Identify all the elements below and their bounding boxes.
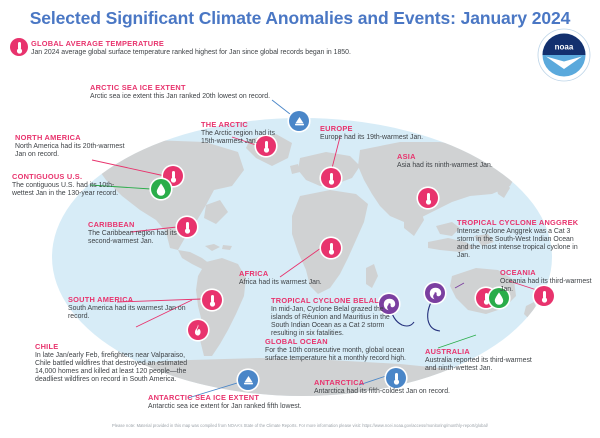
- thermometer-icon-south-america: [202, 290, 222, 310]
- callout-europe: EUROPE Europe had its 19th-warmest Jan.: [320, 124, 430, 142]
- sea-ice-icon-antarctic: [238, 370, 258, 390]
- fire-icon-chile: [188, 320, 208, 340]
- callout-heading: CHILE: [35, 342, 195, 351]
- footer-note: Please note: Material provided in this m…: [0, 423, 600, 429]
- callout-body: Oceania had its third-warmest Jan.: [500, 278, 600, 295]
- callout-south-america: SOUTH AMERICA South America had its warm…: [68, 295, 188, 321]
- callout-body: The Caribbean region had its second-warm…: [88, 230, 178, 247]
- callout-australia: AUSTRALIA Australia reported its third-w…: [425, 347, 535, 373]
- callout-body: Intense cyclone Anggrek was a Cat 3 stor…: [457, 228, 581, 261]
- callout-body: The contiguous U.S. had its 10th-wettest…: [12, 182, 130, 199]
- thermometer-icon-africa: [321, 238, 341, 258]
- callout-body: The Arctic region had its 15th-warmest J…: [201, 130, 281, 147]
- callout-africa: AFRICA Africa had its warmest Jan.: [239, 269, 339, 287]
- thermometer-icon-global-average-temperature: [10, 38, 28, 56]
- callout-heading: ARCTIC SEA ICE EXTENT: [90, 83, 340, 92]
- callout-body: Africa had its warmest Jan.: [239, 279, 339, 287]
- callout-chile: CHILE In late Jan/early Feb, firefighter…: [35, 342, 195, 385]
- callout-body: In mid-Jan, Cyclone Belal grazed the isl…: [271, 306, 393, 339]
- climate-anomalies-map: Selected Significant Climate Anomalies a…: [0, 0, 600, 438]
- sea-ice-icon-arctic: [289, 111, 309, 131]
- callout-heading: SOUTH AMERICA: [68, 295, 188, 304]
- callout-heading: ANTARCTICA: [314, 378, 474, 387]
- callout-heading: AFRICA: [239, 269, 339, 278]
- callout-body: Antarctica had its fifth-coldest Jan on …: [314, 388, 474, 396]
- water-drop-icon-contiguous-us: [151, 179, 171, 199]
- callout-the-arctic: THE ARCTIC The Arctic region had its 15t…: [201, 120, 281, 146]
- callout-body: Antarctic sea ice extent for Jan ranked …: [148, 403, 328, 411]
- callout-caribbean: CARIBBEAN The Caribbean region had its s…: [88, 220, 178, 246]
- callout-heading: GLOBAL AVERAGE TEMPERATURE: [31, 39, 361, 48]
- callout-oceania: OCEANIA Oceania had its third-warmest Ja…: [500, 268, 600, 294]
- callout-body: Jan 2024 average global surface temperat…: [31, 49, 361, 57]
- callout-body: Asia had its ninth-warmest Jan.: [397, 162, 507, 170]
- callout-heading: TROPICAL CYCLONE ANGGREK: [457, 218, 581, 227]
- callout-antarctica: ANTARCTICA Antarctica had its fifth-cold…: [314, 378, 474, 396]
- callout-antarctic-sea-ice-extent: ANTARCTIC SEA ICE EXTENT Antarctic sea i…: [148, 393, 328, 411]
- callout-asia: ASIA Asia had its ninth-warmest Jan.: [397, 152, 507, 170]
- callout-heading: ASIA: [397, 152, 507, 161]
- callout-body: For the 10th consecutive month, global o…: [265, 347, 410, 364]
- cyclone-icon-anggrek: [425, 283, 445, 303]
- thermometer-icon-caribbean: [177, 217, 197, 237]
- callout-body: Australia reported its third-warmest and…: [425, 357, 535, 374]
- callout-heading: CONTIGUOUS U.S.: [12, 172, 130, 181]
- callout-heading: NORTH AMERICA: [15, 133, 125, 142]
- callout-heading: THE ARCTIC: [201, 120, 281, 129]
- callout-tropical-cyclone-anggrek: TROPICAL CYCLONE ANGGREK Intense cyclone…: [457, 218, 581, 261]
- callout-body: South America had its warmest Jan on rec…: [68, 305, 188, 322]
- callout-heading: CARIBBEAN: [88, 220, 178, 229]
- callout-global-average-temperature: GLOBAL AVERAGE TEMPERATURE Jan 2024 aver…: [31, 39, 361, 57]
- callout-body: In late Jan/early Feb, firefighters near…: [35, 352, 195, 385]
- callout-contiguous-us: CONTIGUOUS U.S. The contiguous U.S. had …: [12, 172, 130, 198]
- callout-heading: ANTARCTIC SEA ICE EXTENT: [148, 393, 328, 402]
- callout-arctic-sea-ice-extent: ARCTIC SEA ICE EXTENT Arctic sea ice ext…: [90, 83, 340, 101]
- callout-heading: GLOBAL OCEAN: [265, 337, 410, 346]
- callout-north-america: NORTH AMERICA North America had its 20th…: [15, 133, 125, 159]
- callout-heading: EUROPE: [320, 124, 430, 133]
- thermometer-icon-europe: [321, 168, 341, 188]
- thermometer-icon-asia: [418, 188, 438, 208]
- callout-tropical-cyclone-belal: TROPICAL CYCLONE BELAL In mid-Jan, Cyclo…: [271, 296, 393, 339]
- callout-heading: TROPICAL CYCLONE BELAL: [271, 296, 393, 305]
- callout-body: North America had its 20th-warmest Jan o…: [15, 143, 125, 160]
- callout-heading: AUSTRALIA: [425, 347, 535, 356]
- callout-body: Arctic sea ice extent this Jan ranked 20…: [90, 93, 340, 101]
- callout-body: Europe had its 19th-warmest Jan.: [320, 134, 430, 142]
- callout-global-ocean: GLOBAL OCEAN For the 10th consecutive mo…: [265, 337, 410, 363]
- callout-heading: OCEANIA: [500, 268, 600, 277]
